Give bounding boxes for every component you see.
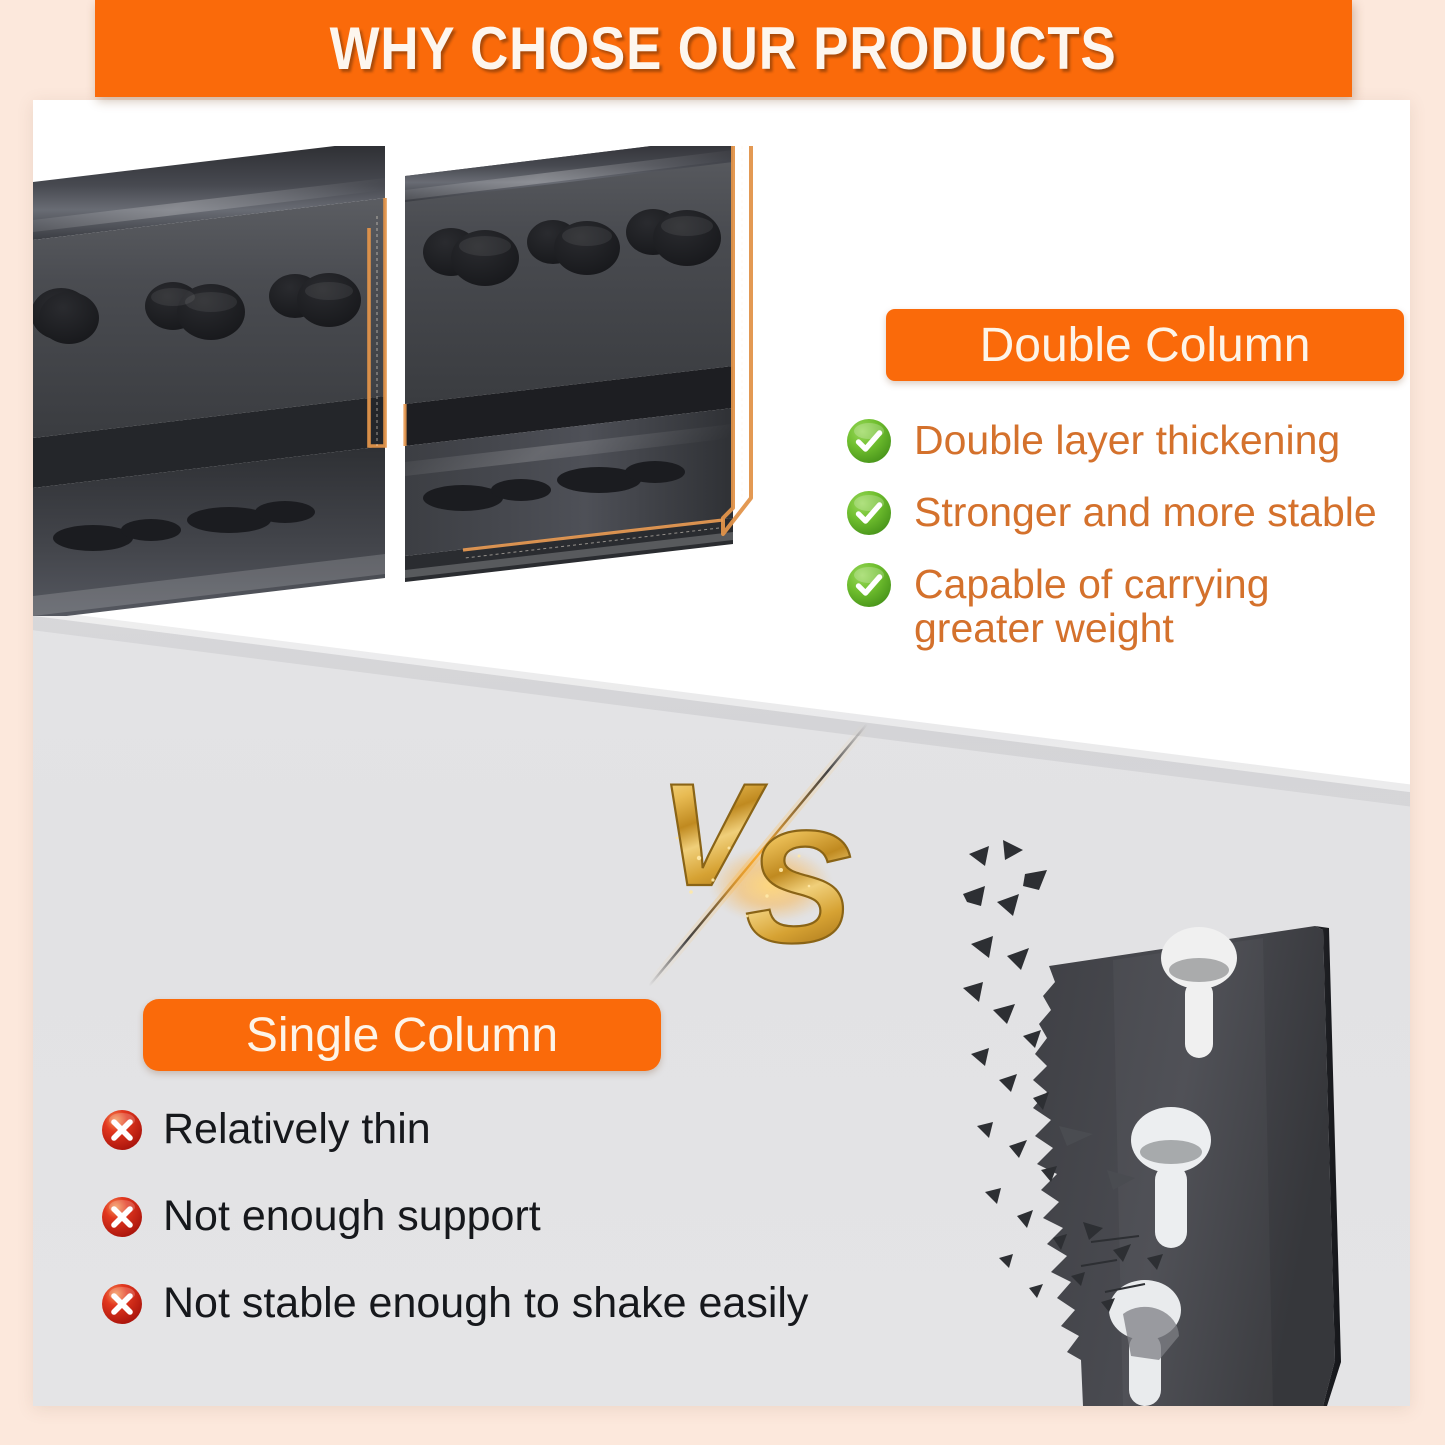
- list-item: Stronger and more stable: [846, 490, 1410, 536]
- header-banner: WHY CHOSE OUR PRODUCTS: [95, 0, 1352, 97]
- shattered-single-column-panel-photo: [963, 840, 1410, 1406]
- check-circle-icon: [846, 490, 892, 536]
- cross-circle-icon: [101, 1109, 143, 1151]
- svg-text:S: S: [745, 797, 852, 976]
- infographic-page: VS V S Double Column: [0, 0, 1445, 1445]
- content-panel: VS V S Double Column: [33, 100, 1410, 1406]
- list-item-label: Double layer thickening: [914, 418, 1340, 463]
- list-item: Capable of carrying greater weight: [846, 562, 1410, 651]
- list-item-label: Not enough support: [163, 1192, 541, 1239]
- list-item-label: Capable of carrying greater weight: [914, 562, 1344, 651]
- list-item: Not stable enough to shake easily: [101, 1279, 861, 1326]
- single-column-label-pill: Single Column: [143, 999, 661, 1071]
- list-item-label: Not stable enough to shake easily: [163, 1279, 808, 1326]
- versus-badge: VS V S: [633, 730, 903, 980]
- list-item: Relatively thin: [101, 1105, 861, 1152]
- double-column-steel-rails-photo: [33, 146, 823, 616]
- double-column-label: Double Column: [980, 318, 1311, 373]
- cross-circle-icon: [101, 1196, 143, 1238]
- list-item: Not enough support: [101, 1192, 861, 1239]
- check-circle-icon: [846, 418, 892, 464]
- list-item-label: Relatively thin: [163, 1105, 431, 1152]
- double-column-label-pill: Double Column: [886, 309, 1404, 381]
- list-item-label: Stronger and more stable: [914, 490, 1377, 535]
- single-column-label: Single Column: [246, 1008, 558, 1063]
- single-column-drawback-list: Relatively thin Not enough support: [101, 1105, 861, 1366]
- page-title: WHY CHOSE OUR PRODUCTS: [330, 14, 1117, 83]
- cross-circle-icon: [101, 1283, 143, 1325]
- check-circle-icon: [846, 562, 892, 608]
- list-item: Double layer thickening: [846, 418, 1410, 464]
- double-column-benefit-list: Double layer thickening Stronger and mor…: [846, 418, 1410, 677]
